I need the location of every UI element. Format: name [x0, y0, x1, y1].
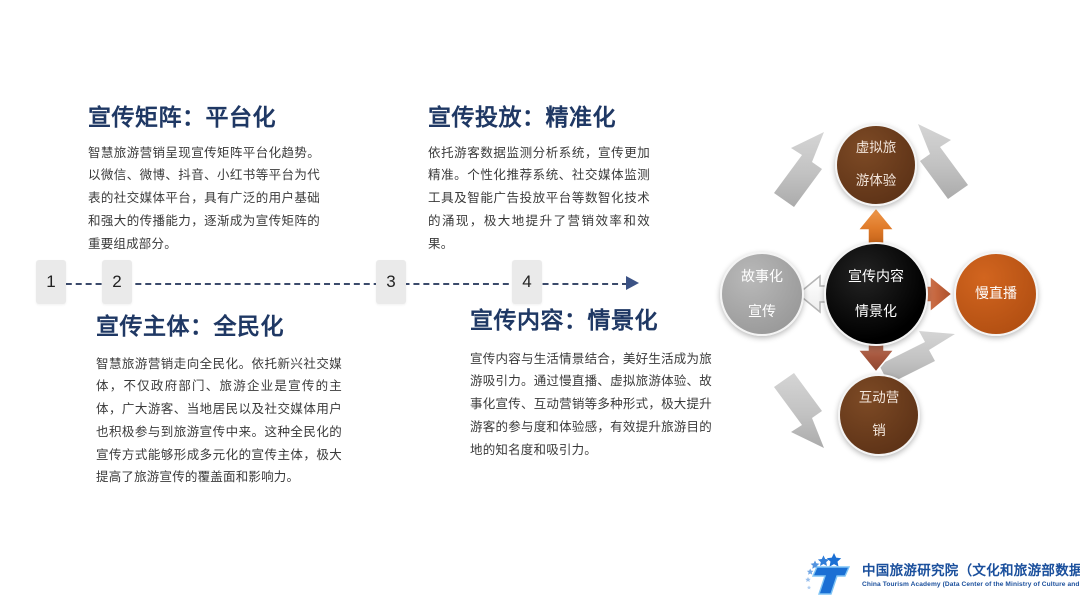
outer-arrow-right-to-top: [918, 124, 968, 199]
diagram-node-right[interactable]: 慢直播: [954, 252, 1038, 336]
block-2-title: 宣传投放：精准化: [428, 104, 656, 132]
block-2-body: 依托游客数据监测分析系统，宣传更加精准。个性化推荐系统、社交媒体监测工具及智能广…: [428, 142, 650, 256]
block-1-title: 宣传矩阵：平台化: [88, 104, 326, 132]
diagram-node-left[interactable]: 故事化 宣传: [720, 252, 804, 336]
timeline-arrow-icon: [626, 276, 639, 290]
timeline-step-4[interactable]: 4: [512, 260, 542, 304]
cycle-diagram: 虚拟旅 游体验 慢直播 互动营 销 故事化 宣传 宣传内容 情景化: [706, 112, 1066, 468]
inner-arrow-center-to-top: [858, 208, 894, 244]
block-4-body: 宣传内容与生活情景结合，美好生活成为旅游吸引力。通过慢直播、虚拟旅游体验、故事化…: [470, 348, 712, 462]
content-block-4: 宣传内容：情景化 宣传内容与生活情景结合，美好生活成为旅游吸引力。通过慢直播、虚…: [470, 307, 714, 461]
timeline: 1 2 3 4: [36, 258, 642, 310]
node-left-line2: 宣传: [737, 303, 787, 321]
timeline-step-2[interactable]: 2: [102, 260, 132, 304]
organization-logo: 中国旅游研究院（文化和旅游部数据中心） China Tourism Academ…: [804, 549, 1074, 597]
node-left-line1: 故事化: [737, 268, 787, 286]
block-3-title: 宣传主体：全民化: [96, 313, 344, 341]
logo-text-group: 中国旅游研究院（文化和旅游部数据中心） China Tourism Academ…: [862, 559, 1080, 588]
diagram-node-bottom[interactable]: 互动营 销: [838, 374, 920, 456]
diagram-node-center[interactable]: 宣传内容 情景化: [824, 242, 928, 346]
node-center-line2: 情景化: [844, 303, 908, 321]
logo-chinese-name: 中国旅游研究院（文化和旅游部数据中心）: [862, 559, 1080, 579]
logo-english-name: China Tourism Academy (Data Center of th…: [862, 581, 1080, 588]
node-bottom-line2: 销: [855, 423, 904, 440]
block-4-title: 宣传内容：情景化: [470, 307, 714, 335]
node-bottom-line1: 互动营: [855, 390, 904, 407]
outer-arrow-left-to-bottom: [774, 373, 824, 448]
tourism-academy-logo-icon: [804, 551, 856, 595]
outer-arrow-left-to-top: [774, 132, 824, 207]
content-block-2: 宣传投放：精准化 依托游客数据监测分析系统，宣传更加精准。个性化推荐系统、社交媒…: [428, 104, 656, 255]
content-block-1: 宣传矩阵：平台化 智慧旅游营销呈现宣传矩阵平台化趋势。以微信、微博、抖音、小红书…: [88, 104, 326, 255]
node-top-line1: 虚拟旅: [852, 140, 901, 157]
node-center-line1: 宣传内容: [844, 268, 908, 286]
block-3-body: 智慧旅游营销走向全民化。依托新兴社交媒体，不仅政府部门、旅游企业是宣传的主体，广…: [96, 353, 342, 490]
block-1-body: 智慧旅游营销呈现宣传矩阵平台化趋势。以微信、微博、抖音、小红书等平台为代表的社交…: [88, 142, 320, 256]
node-top-line2: 游体验: [852, 173, 901, 190]
content-block-3: 宣传主体：全民化 智慧旅游营销走向全民化。依托新兴社交媒体，不仅政府部门、旅游企…: [96, 313, 344, 489]
diagram-node-top[interactable]: 虚拟旅 游体验: [835, 124, 917, 206]
node-right-line1: 慢直播: [971, 285, 1021, 303]
timeline-step-3[interactable]: 3: [376, 260, 406, 304]
timeline-step-1[interactable]: 1: [36, 260, 66, 304]
